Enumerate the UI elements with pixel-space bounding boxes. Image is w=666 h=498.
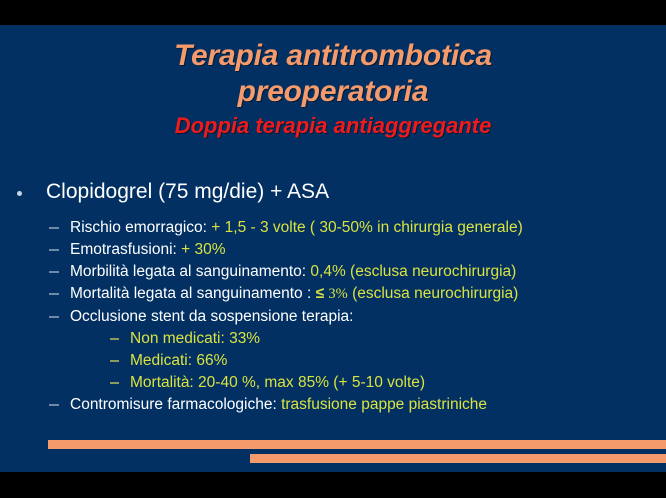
item-label: Rischio emorragico:	[70, 219, 207, 236]
bullet-level1-clopidogrel: Clopidogrel (75 mg/die) + ASA	[0, 178, 666, 206]
item-value-rest: (esclusa neurochirurgia)	[352, 285, 518, 302]
slide-title-line-2: preoperatoria	[0, 74, 666, 110]
decorative-bar-upper	[48, 440, 666, 449]
bullet-dash-icon	[110, 360, 119, 362]
bullet-dash-icon	[49, 316, 59, 318]
slide-canvas: Terapia antitrombotica preoperatoria Dop…	[0, 25, 666, 472]
bullet-level2-contromisure: Contromisure farmacologiche: trasfusione…	[0, 394, 666, 415]
item-label: Emotrasfusioni:	[70, 241, 177, 258]
bullet-dash-icon	[110, 338, 119, 340]
item-label: Contromisure farmacologiche:	[70, 396, 277, 413]
sub-item-label: Mortalità: 20-40 %, max 85% (+ 5-10 volt…	[130, 374, 425, 391]
item-value: + 30%	[181, 241, 225, 258]
decorative-bar-lower	[250, 454, 666, 463]
letterbox-band-top	[0, 0, 666, 25]
bullet-level3-medicati: Medicati: 66%	[0, 350, 666, 371]
sub-item-label: Medicati: 66%	[130, 352, 227, 369]
bullet-level1-label: Clopidogrel (75 mg/die) + ASA	[46, 180, 329, 203]
item-value-symbol: ≤	[316, 285, 325, 302]
item-value: trasfusione pappe piastriniche	[281, 396, 487, 413]
bullet-level2-morbilita: Morbilità legata al sanguinamento: 0,4% …	[0, 261, 666, 282]
bullet-dash-icon	[49, 271, 59, 273]
bullet-level3-non-medicati: Non medicati: 33%	[0, 328, 666, 349]
bullet-level2-mortalita-sanguinamento: Mortalità legata al sanguinamento : ≤ 3%…	[0, 283, 666, 305]
item-value: 0,4% (esclusa neurochirurgia)	[310, 263, 516, 280]
item-value: + 1,5 - 3 volte ( 30-50% in chirurgia ge…	[211, 219, 522, 236]
bullet-dash-icon	[49, 227, 59, 229]
letterbox-band-bottom	[0, 472, 666, 498]
bullet-level2-occlusione-stent: Occlusione stent da sospensione terapia:	[0, 306, 666, 327]
sub-item-label: Non medicati: 33%	[130, 330, 260, 347]
slide-subtitle: Doppia terapia antiaggregante	[0, 112, 666, 140]
slide-title-block: Terapia antitrombotica preoperatoria Dop…	[0, 38, 666, 140]
bullet-dash-icon	[49, 293, 59, 295]
item-label: Morbilità legata al sanguinamento:	[70, 263, 306, 280]
bullet-dash-icon	[49, 249, 59, 251]
bullet-dash-icon	[110, 382, 119, 384]
bullet-level2-emotrasfusioni: Emotrasfusioni: + 30%	[0, 239, 666, 260]
bullet-level3-mortalita: Mortalità: 20-40 %, max 85% (+ 5-10 volt…	[0, 372, 666, 393]
slide-frame: Terapia antitrombotica preoperatoria Dop…	[0, 0, 666, 498]
bullet-dot-icon	[17, 191, 22, 196]
slide-title-line-1: Terapia antitrombotica	[0, 38, 666, 74]
bullet-dash-icon	[49, 404, 59, 406]
item-label: Mortalità legata al sanguinamento :	[70, 285, 311, 302]
bullet-level2-rischio-emorragico: Rischio emorragico: + 1,5 - 3 volte ( 30…	[0, 217, 666, 238]
item-value-small: 3%	[328, 286, 347, 302]
slide-title-main: Terapia antitrombotica preoperatoria	[0, 38, 666, 110]
item-label: Occlusione stent da sospensione terapia:	[70, 308, 353, 325]
slide-body: Clopidogrel (75 mg/die) + ASA Rischio em…	[0, 178, 666, 416]
